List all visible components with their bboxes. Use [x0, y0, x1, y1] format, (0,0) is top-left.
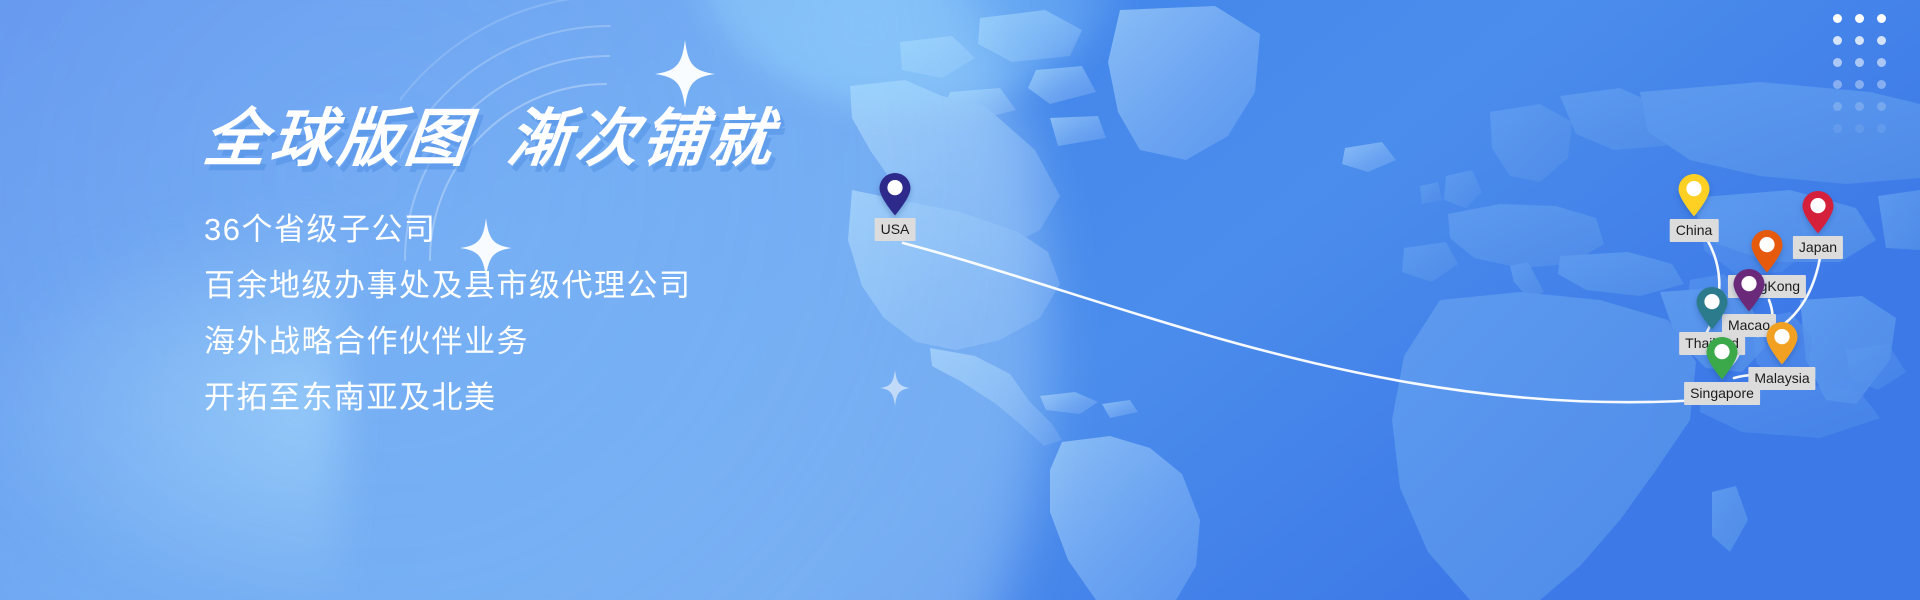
list-item: 开拓至东南亚及北美 — [204, 370, 924, 426]
map-marker-label: China — [1670, 219, 1719, 242]
map-marker-singapore[interactable]: Singapore — [1705, 336, 1739, 380]
map-marker-hongkong[interactable]: HongKong — [1750, 229, 1784, 273]
map-pin-icon — [1705, 336, 1739, 380]
map-marker-thailand[interactable]: Thailand — [1695, 286, 1729, 330]
page-title: 全球版图渐次铺就 — [201, 106, 928, 172]
decorative-dot-grid — [1826, 8, 1892, 140]
map-marker-usa[interactable]: USA — [878, 172, 912, 216]
list-item: 百余地级办事处及县市级代理公司 — [204, 258, 924, 314]
map-pin-icon — [1695, 286, 1729, 330]
map-marker-label: Japan — [1793, 236, 1843, 259]
map-marker-japan[interactable]: Japan — [1801, 190, 1835, 234]
list-item: 海外战略合作伙伴业务 — [204, 314, 924, 370]
map-marker-label: USA — [875, 218, 916, 241]
list-item: 36个省级子公司 — [204, 202, 924, 258]
map-pin-icon — [1750, 229, 1784, 273]
map-pin-icon — [1801, 190, 1835, 234]
map-marker-malaysia[interactable]: Malaysia — [1765, 321, 1799, 365]
map-marker-label: Singapore — [1684, 382, 1760, 405]
map-marker-china[interactable]: China — [1677, 173, 1711, 217]
map-pin-icon — [1765, 321, 1799, 365]
map-pin-icon — [1732, 268, 1766, 312]
banner-copy: 全球版图渐次铺就 36个省级子公司 百余地级办事处及县市级代理公司 海外战略合作… — [204, 106, 924, 426]
global-presence-banner: 全球版图渐次铺就 36个省级子公司 百余地级办事处及县市级代理公司 海外战略合作… — [0, 0, 1920, 600]
map-pin-icon — [1677, 173, 1711, 217]
map-marker-macao[interactable]: Macao — [1732, 268, 1766, 312]
headline-part-1: 全球版图 — [200, 104, 475, 174]
map-pin-icon — [878, 172, 912, 216]
banner-bullet-list: 36个省级子公司 百余地级办事处及县市级代理公司 海外战略合作伙伴业务 开拓至东… — [204, 202, 924, 426]
headline-part-2: 渐次铺就 — [504, 104, 779, 174]
